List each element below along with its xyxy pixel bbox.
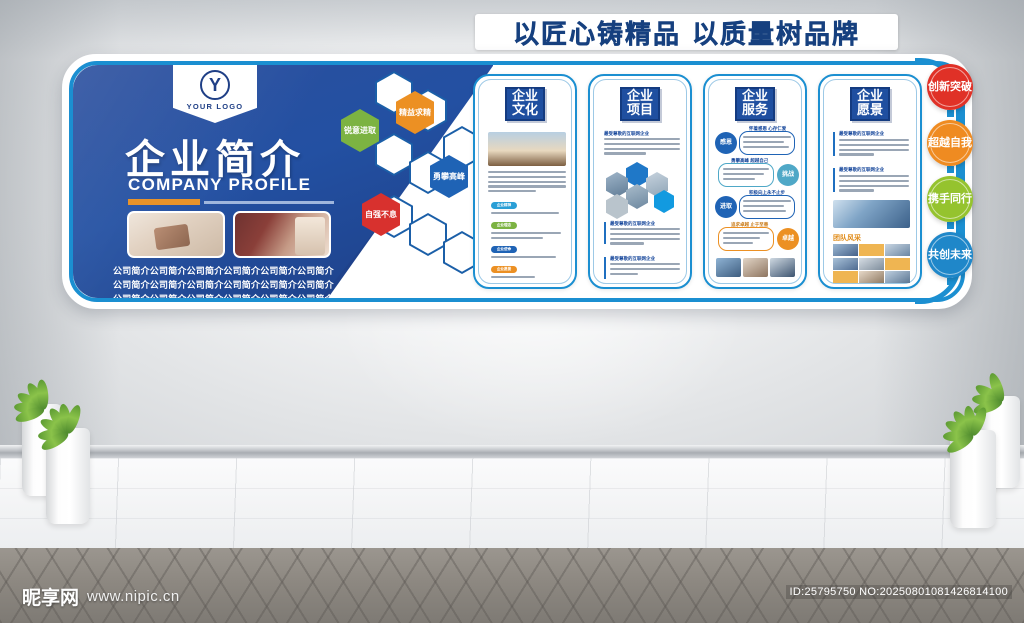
slogan-text: 以匠心铸精品 以质量树品牌 xyxy=(513,14,860,51)
culture-item-label: 企业使命 xyxy=(491,246,517,253)
rail-circle-3[interactable]: 携手同行 xyxy=(927,176,973,222)
panel-paragraph xyxy=(610,263,680,277)
floor-tile-area xyxy=(0,458,1024,550)
hex-blank xyxy=(375,133,413,176)
gallery-tile xyxy=(859,258,884,270)
gallery-tile xyxy=(859,271,884,283)
service-title-4: 追求卓越 止于至善 xyxy=(731,222,768,228)
service-text-1 xyxy=(743,136,791,150)
panel-badge: 企业愿景 xyxy=(850,87,890,121)
gallery-tile xyxy=(885,271,910,283)
watermark-site-name: 昵享网 xyxy=(22,583,79,610)
panel-paragraph xyxy=(488,171,566,195)
panel-badge: 企业项目 xyxy=(620,87,660,121)
desk-tablet-photo xyxy=(127,211,225,258)
culture-item-label: 企业精神 xyxy=(491,202,517,209)
panel-badge: 企业文化 xyxy=(505,87,545,121)
vision-heading: 最受尊敬的互联网企业 xyxy=(839,167,884,173)
quote-bar xyxy=(833,132,835,156)
service-circle-4: 卓越 xyxy=(777,228,799,250)
panel-corporate-culture[interactable]: 企业文化 企业精神 企业理念 企业使命 企业愿景 xyxy=(473,74,577,289)
hero-line: 公司简介公司简介公司简介公司简介公司简介公司简介 xyxy=(113,293,403,298)
baseboard xyxy=(0,445,1024,458)
watermark-left: 昵享网 www.nipic.cn xyxy=(22,583,180,610)
culture-item-text xyxy=(491,256,565,261)
rail-connector xyxy=(947,222,954,229)
culture-item-text xyxy=(491,276,565,281)
modern-building-photo xyxy=(833,200,910,228)
panel-paragraph xyxy=(839,139,909,158)
watermark-id: ID:25795750 NO:20250801081426814100 xyxy=(786,585,1012,599)
hex-label: 自强不息 xyxy=(365,210,397,219)
hex-label: 精益求精 xyxy=(399,108,431,117)
service-circle-2: 挑战 xyxy=(777,164,799,186)
slogan-banner: 以匠心铸精品 以质量树品牌 xyxy=(475,14,898,50)
quote-bar xyxy=(604,257,606,279)
rail-circle-label: 超越自我 xyxy=(928,137,972,149)
tech-photo xyxy=(770,258,795,277)
culture-wall-artwork: 以匠心铸精品 以质量树品牌 Y YOUR LOGO 企业简介 COMPANY P… xyxy=(60,14,985,314)
panel-corporate-vision[interactable]: 企业愿景 最受尊敬的互联网企业 最受尊敬的互联网企业 团队风采 xyxy=(818,74,922,289)
service-title-1: 怀着感恩 心存仁爱 xyxy=(749,126,786,132)
artwork-body: Y YOUR LOGO 企业简介 COMPANY PROFILE 公司简介公司简… xyxy=(73,65,961,298)
gallery-tile xyxy=(833,258,858,270)
title-divider xyxy=(128,199,328,205)
hex-label: 锐意进取 xyxy=(344,126,376,135)
service-text-2 xyxy=(723,168,769,182)
rail-connector xyxy=(947,110,954,117)
panel-paragraph xyxy=(604,138,680,157)
panel-badge: 企业服务 xyxy=(735,87,775,121)
logo-text: YOUR LOGO xyxy=(173,102,257,111)
gallery-tile xyxy=(885,258,910,270)
team-photo xyxy=(716,258,741,277)
hex-blank xyxy=(409,213,447,256)
service-circle-3: 进取 xyxy=(715,196,737,218)
gallery-title: 团队风采 xyxy=(833,233,861,243)
rail-circle-label: 携手同行 xyxy=(928,193,972,205)
hex-value-1: 锐意进取 xyxy=(341,109,379,152)
project-heading: 最受尊敬的互联网企业 xyxy=(604,131,649,137)
culture-item-label: 企业理念 xyxy=(491,222,517,229)
rail-circle-label: 创新突破 xyxy=(928,81,972,93)
rail-connector xyxy=(947,166,954,173)
panel-corporate-project[interactable]: 企业项目 最受尊敬的互联网企业 最受尊敬的互联网企业 xyxy=(588,74,692,289)
rail-circle-4[interactable]: 共创未来 xyxy=(927,232,973,278)
business-people-photo xyxy=(233,211,331,258)
rail-circle-1[interactable]: 创新突破 xyxy=(927,64,973,110)
hex-label: 勇攀高峰 xyxy=(433,172,465,181)
gallery-tile xyxy=(885,244,910,256)
project-heading: 最受尊敬的互联网企业 xyxy=(610,221,655,227)
hex-photo-collage xyxy=(606,162,678,212)
logo-mark-icon: Y xyxy=(200,70,230,100)
rail-connector xyxy=(947,278,954,285)
rail-circle-label: 共创未来 xyxy=(928,249,972,261)
gallery-tile xyxy=(833,244,858,256)
teamwork-sunset-photo xyxy=(488,132,566,166)
quote-bar xyxy=(604,222,606,244)
room-scene: 以匠心铸精品 以质量树品牌 Y YOUR LOGO 企业简介 COMPANY P… xyxy=(0,0,1024,623)
quote-bar xyxy=(833,168,835,192)
project-heading: 最受尊敬的互联网企业 xyxy=(610,256,655,262)
value-circle-rail: 创新突破 超越自我 携手同行 共创未来 xyxy=(923,62,983,302)
hexagon-cluster: 锐意进取 精益求精 勇攀高峰 自强不息 xyxy=(347,71,487,291)
vision-heading: 最受尊敬的互联网企业 xyxy=(839,131,884,137)
rail-circle-2[interactable]: 超越自我 xyxy=(927,120,973,166)
team-gallery xyxy=(833,244,910,283)
service-text-4 xyxy=(723,232,769,246)
service-title-2: 勇攀高峰 超越自己 xyxy=(731,158,768,164)
panel-paragraph xyxy=(839,175,909,194)
culture-item-label: 企业愿景 xyxy=(491,266,517,273)
panel-corporate-service[interactable]: 企业服务 感恩 怀着感恩 心存仁爱 挑战 勇攀高峰 超越自己 进取 积极向上永不… xyxy=(703,74,807,289)
service-circle-1: 感恩 xyxy=(715,132,737,154)
culture-item-text xyxy=(491,212,565,217)
service-text-3 xyxy=(743,200,791,214)
service-title-3: 积极向上永不止步 xyxy=(749,190,785,196)
culture-item-text xyxy=(491,232,565,242)
gallery-tile xyxy=(859,244,884,256)
panel-paragraph xyxy=(610,228,680,247)
handshake-photo xyxy=(743,258,768,277)
gallery-tile xyxy=(833,271,858,283)
watermark-url: www.nipic.cn xyxy=(87,588,180,605)
